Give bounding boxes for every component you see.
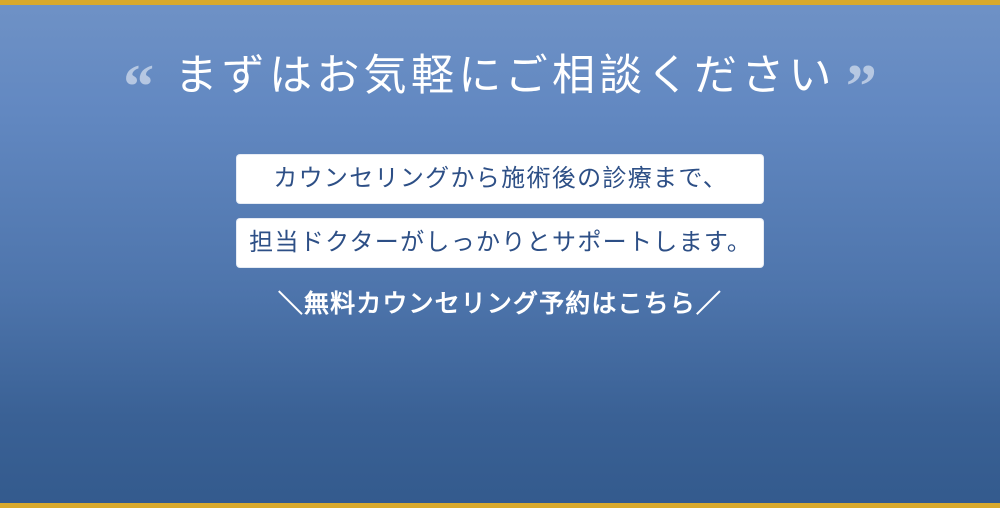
statement-text-1: カウンセリングから施術後の診療まで、 [272, 167, 728, 191]
bottom-gold-divider [0, 503, 1000, 508]
cta-banner: “ まずはお気軽にご相談ください ” カウンセリングから施術後の診療まで、 担当… [0, 0, 1000, 508]
statement-list: カウンセリングから施術後の診療まで、 担当ドクターがしっかりとサポートします。 [0, 155, 1000, 267]
statement-box-1: カウンセリングから施術後の診療まで、 [237, 155, 763, 203]
quote-close-icon: ” [846, 56, 877, 118]
leadin-text: ＼無料カウンセリング予約はこちら／ [278, 290, 722, 318]
statement-text-2: 担当ドクターがしっかりとサポートします。 [248, 231, 752, 255]
quote-open-icon: “ [123, 56, 154, 118]
headline: “ まずはお気軽にご相談ください ” [0, 52, 1000, 118]
statement-box-2: 担当ドクターがしっかりとサポートします。 [237, 219, 763, 267]
top-gold-divider [0, 0, 1000, 5]
headline-text: まずはお気軽にご相談ください [170, 52, 836, 103]
leadin-line: ＼無料カウンセリング予約はこちら／ [0, 292, 1000, 317]
